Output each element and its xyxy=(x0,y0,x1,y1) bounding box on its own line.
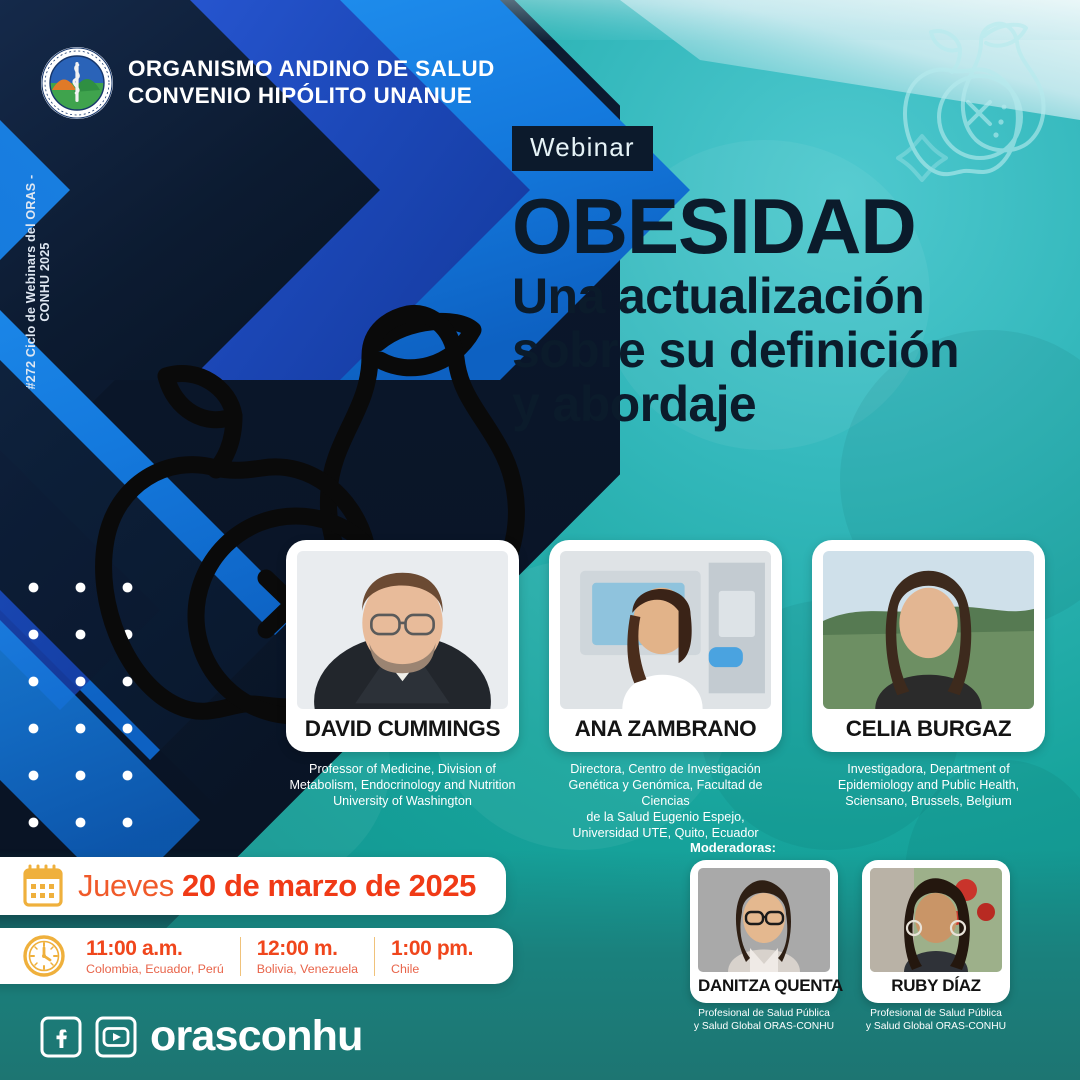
speaker-role: Professor of Medicine, Division of Metab… xyxy=(286,761,519,809)
avatar xyxy=(297,551,508,709)
speaker-role: Investigadora, Department of Epidemiolog… xyxy=(812,761,1045,809)
subtitle-line-1: Una actualización xyxy=(512,269,1052,323)
webinar-series-label: #272 Ciclo de Webinars del ORAS - CONHU … xyxy=(24,162,52,402)
speaker-role-line: Sciensano, Brussels, Belgium xyxy=(814,793,1043,809)
title-block: Webinar OBESIDAD Una actualización sobre… xyxy=(512,126,1052,431)
moderator-role: Profesional de Salud Pública y Salud Glo… xyxy=(690,1008,838,1034)
moderator-photo-card: DANITZA QUENTA xyxy=(690,860,838,1003)
time-zone: Chile xyxy=(391,962,473,976)
social-handle[interactable]: orasconhu xyxy=(150,1012,363,1061)
moderator-role-line: Profesional de Salud Pública xyxy=(690,1008,838,1021)
speaker-role-line: de la Salud Eugenio Espejo, xyxy=(551,809,780,825)
moderator-name: RUBY DÍAZ xyxy=(870,972,1002,1003)
speaker-role-line: Epidemiology and Public Health, xyxy=(814,777,1043,793)
time-banner: 11:00 a.m. Colombia, Ecuador, Perú 12:00… xyxy=(0,928,513,984)
speaker-role: Directora, Centro de Investigación Genét… xyxy=(549,761,782,842)
speaker-name: DAVID CUMMINGS xyxy=(297,709,508,752)
speaker-photo-card: CELIA BURGAZ xyxy=(812,540,1045,752)
subtitle-line-2: sobre su definición xyxy=(512,323,1052,377)
speakers-list: DAVID CUMMINGS Professor of Medicine, Di… xyxy=(286,540,1046,842)
speaker-role-line: Genética y Genómica, Facultad de Ciencia… xyxy=(551,777,780,809)
date-day-prefix: Jueves xyxy=(78,868,182,903)
subtitle-line-3: y abordaje xyxy=(512,377,1052,431)
moderator-role-line: y Salud Global ORAS-CONHU xyxy=(862,1021,1010,1034)
speaker-role-line: Professor of Medicine, Division of xyxy=(288,761,517,777)
date-text: Jueves 20 de marzo de 2025 xyxy=(78,868,476,904)
clock-icon xyxy=(22,934,66,978)
social-footer: orasconhu xyxy=(40,1012,363,1061)
moderator-role-line: Profesional de Salud Pública xyxy=(862,1008,1010,1021)
moderator-role: Profesional de Salud Pública y Salud Glo… xyxy=(862,1008,1010,1034)
moderator-role-line: y Salud Global ORAS-CONHU xyxy=(690,1021,838,1034)
time-zone: Colombia, Ecuador, Perú xyxy=(86,962,224,976)
speaker-card: CELIA BURGAZ Investigadora, Department o… xyxy=(812,540,1045,842)
moderator-photo-card: RUBY DÍAZ xyxy=(862,860,1010,1003)
date-banner: Jueves 20 de marzo de 2025 xyxy=(0,857,506,915)
speaker-photo-card: DAVID CUMMINGS xyxy=(286,540,519,752)
time-value: 11:00 a.m. xyxy=(86,937,224,961)
organization-name: ORGANISMO ANDINO DE SALUD CONVENIO HIPÓL… xyxy=(128,56,495,109)
webinar-poster: ORGANISMO ANDINO DE SALUD CONVENIO HIPÓL… xyxy=(0,0,1080,1080)
speaker-name: CELIA BURGAZ xyxy=(823,709,1034,752)
time-slot: 11:00 a.m. Colombia, Ecuador, Perú xyxy=(82,937,240,976)
speaker-name: ANA ZAMBRANO xyxy=(560,709,771,752)
time-slots: 11:00 a.m. Colombia, Ecuador, Perú 12:00… xyxy=(82,937,489,976)
speaker-role-line: Directora, Centro de Investigación xyxy=(551,761,780,777)
time-value: 1:00 pm. xyxy=(391,937,473,961)
page-subtitle: Una actualización sobre su definición y … xyxy=(512,269,1052,431)
moderators-label: Moderadoras: xyxy=(690,840,1010,855)
speaker-card: ANA ZAMBRANO Directora, Centro de Invest… xyxy=(549,540,782,842)
avatar xyxy=(823,551,1034,709)
time-slot: 1:00 pm. Chile xyxy=(374,937,489,976)
speaker-role-line: Metabolism, Endocrinology and Nutrition xyxy=(288,777,517,793)
avatar xyxy=(870,868,1002,972)
moderator-card: RUBY DÍAZ Profesional de Salud Pública y… xyxy=(862,860,1010,1034)
webinar-badge: Webinar xyxy=(512,126,653,171)
time-slot: 12:00 m. Bolivia, Venezuela xyxy=(240,937,374,976)
date-value: 20 de marzo de 2025 xyxy=(182,868,476,903)
avatar xyxy=(560,551,771,709)
time-zone: Bolivia, Venezuela xyxy=(257,962,358,976)
speaker-card: DAVID CUMMINGS Professor of Medicine, Di… xyxy=(286,540,519,842)
speaker-role-line: University of Washington xyxy=(288,793,517,809)
oras-conhu-emblem-icon xyxy=(40,46,114,120)
youtube-icon[interactable] xyxy=(95,1016,137,1058)
facebook-icon[interactable] xyxy=(40,1016,82,1058)
speaker-role-line: Investigadora, Department of xyxy=(814,761,1043,777)
org-line-1: ORGANISMO ANDINO DE SALUD xyxy=(128,56,495,83)
calendar-icon xyxy=(22,864,64,908)
speaker-photo-card: ANA ZAMBRANO xyxy=(549,540,782,752)
page-title: OBESIDAD xyxy=(512,187,1052,265)
org-line-2: CONVENIO HIPÓLITO UNANUE xyxy=(128,83,495,110)
moderator-name: DANITZA QUENTA xyxy=(698,972,830,1003)
avatar xyxy=(698,868,830,972)
moderator-card: DANITZA QUENTA Profesional de Salud Públ… xyxy=(690,860,838,1034)
time-value: 12:00 m. xyxy=(257,937,358,961)
moderators-section: Moderadoras: xyxy=(690,840,1010,1034)
brand-header: ORGANISMO ANDINO DE SALUD CONVENIO HIPÓL… xyxy=(40,46,495,120)
